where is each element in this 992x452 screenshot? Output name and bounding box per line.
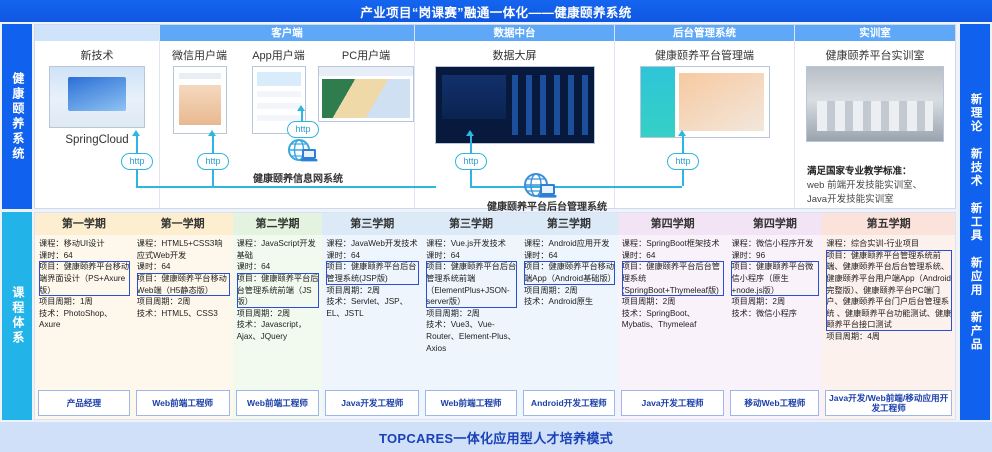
curriculum-course: 课程：移动UI设计 — [39, 238, 130, 250]
curriculum-hours: 课时：96 — [731, 250, 819, 262]
curriculum-column: 第一学期课程：HTML5+CSS3响应式Web开发课时：64项目：健康颐养平台移… — [133, 213, 233, 419]
curriculum-term-header: 第二学期 — [233, 213, 323, 235]
job-role-badge[interactable]: Web前端工程师 — [425, 390, 517, 416]
curriculum-column: 第三学期课程：Android应用开发课时：64项目：健康颐养平台移动端App（A… — [520, 213, 618, 419]
curriculum-project: 项目：健康颐养平台后台管理系统前端（JS版） — [237, 273, 320, 308]
info-net-caption: 健康颐养信息网系统 — [253, 170, 343, 185]
curriculum-term-header: 第三学期 — [520, 213, 618, 235]
job-role-badge[interactable]: Android开发工程师 — [523, 390, 615, 416]
curriculum-column: 第五学期课程：综合实训-行业项目项目：健康颐养平台管理系统前端、健康颐养平台后台… — [822, 213, 955, 419]
curriculum-period: 项目周期：1周 — [39, 296, 130, 308]
curriculum-column: 第一学期课程：移动UI设计课时：64项目：健康颐养平台移动端界面设计（PS+Ax… — [35, 213, 133, 419]
job-role-badge[interactable]: 产品经理 — [38, 390, 130, 416]
arrow-data — [466, 130, 474, 136]
curriculum-period: 项目周期：2周 — [426, 308, 517, 320]
arrow-app — [208, 130, 216, 136]
http-pill-admin: http — [667, 153, 699, 170]
curriculum-hours: 课时：64 — [326, 250, 419, 262]
http-pill-wechat: http — [121, 153, 153, 170]
curriculum-course: 课程：Android应用开发 — [524, 238, 615, 250]
http-pill-app: http — [197, 153, 229, 170]
curriculum-hours: 课时：64 — [39, 250, 130, 262]
curriculum-tech: 技术：微信小程序 — [731, 308, 819, 320]
bus-line-right — [470, 186, 682, 188]
job-role-badge[interactable]: Java开发工程师 — [325, 390, 419, 416]
curriculum-hours: 课时：64 — [137, 261, 230, 273]
sidebar-curriculum-label: 课程体系 — [2, 212, 32, 420]
job-role-badge[interactable]: Web前端工程师 — [136, 390, 230, 416]
curriculum-period: 项目周期：4周 — [826, 331, 952, 343]
riser-app-top — [212, 135, 214, 155]
curriculum-tech: 技术：Javascript，Ajax、JQuery — [237, 319, 320, 342]
arrow-pc — [297, 105, 305, 111]
job-role-badge[interactable]: Java开发工程师 — [621, 390, 725, 416]
curriculum-detail: 课程：JavaScript开发基础课时：64项目：健康颐养平台后台管理系统前端（… — [233, 235, 323, 387]
curriculum-column: 第二学期课程：JavaScript开发基础课时：64项目：健康颐养平台后台管理系… — [233, 213, 323, 419]
curriculum-column: 第三学期课程：Vue.js开发技术课时：64项目：健康颐养平台后台管理系统前端（… — [422, 213, 520, 419]
curriculum-detail: 课程：JavaWeb开发技术课时：64项目：健康颐养平台后台管理系统(JSP版)… — [322, 235, 422, 387]
footer-title: TOPCARES一体化应用型人才培养模式 — [379, 428, 613, 447]
curriculum-tech: 技术：HTML5、CSS3 — [137, 308, 230, 320]
job-role-badge[interactable]: Java开发/Web前端/移动应用开发工程师 — [825, 390, 952, 416]
bus-line-left — [136, 186, 436, 188]
job-role-badge[interactable]: Web前端工程师 — [236, 390, 320, 416]
arrow-wechat — [132, 130, 140, 136]
curriculum-course: 课程：HTML5+CSS3响应式Web开发 — [137, 238, 230, 261]
curriculum-project: 项目：健康颐养平台管理系统前端、健康颐养平台后台管理系统、健康颐养平台用户端Ap… — [826, 250, 952, 331]
http-pill-data: http — [455, 153, 487, 170]
curriculum-tech: 技术：PhotoShop、Axure — [39, 308, 130, 331]
curriculum-period: 项目周期：2周 — [137, 296, 230, 308]
curriculum-detail: 课程：Vue.js开发技术课时：64项目：健康颐养平台后台管理系统前端（Elem… — [422, 235, 520, 387]
job-role-badge[interactable]: 移动Web工程师 — [730, 390, 819, 416]
curriculum-term-header: 第三学期 — [422, 213, 520, 235]
riser-admin-top — [682, 135, 684, 155]
poster-root: 产业项目“岗课赛”融通一体化——健康颐养系统 健康颐养系统 课程体系 新理论 新… — [0, 0, 992, 452]
curriculum-hours: 课时：64 — [426, 250, 517, 262]
footer-bar: TOPCARES一体化应用型人才培养模式 — [0, 422, 992, 452]
curriculum-term-header: 第四学期 — [618, 213, 728, 235]
curriculum-course: 课程：Vue.js开发技术 — [426, 238, 517, 250]
curriculum-course: 课程：SpringBoot框架技术 — [622, 238, 725, 250]
curriculum-term-header: 第四学期 — [727, 213, 822, 235]
curriculum-project: 项目：健康颐养平台移动端界面设计（PS+Axure版） — [39, 261, 130, 296]
curriculum-hours: 课时：64 — [622, 250, 725, 262]
curriculum-detail: 课程：移动UI设计课时：64项目：健康颐养平台移动端界面设计（PS+Axure版… — [35, 235, 133, 387]
curriculum-period: 项目周期：2周 — [731, 296, 819, 308]
riser-wechat-top — [136, 135, 138, 155]
curriculum-term-header: 第一学期 — [35, 213, 133, 235]
curriculum-tech: 技术：Vue3、Vue-Router、Element-Plus、Axios — [426, 319, 517, 354]
curriculum-project: 项目：健康颐养平台后台管理系统(JSP版) — [326, 261, 419, 284]
backend-net-caption: 健康颐养平台后台管理系统 — [487, 198, 607, 213]
curriculum-detail: 课程：Android应用开发课时：64项目：健康颐养平台移动端App（Andro… — [520, 235, 618, 387]
curriculum-tech: 技术：Servlet、JSP、EL、JSTL — [326, 296, 419, 319]
sidebar-curriculum-text: 课程体系 — [10, 286, 24, 346]
curriculum-term-header: 第五学期 — [822, 213, 955, 235]
curriculum-course: 课程：JavaScript开发基础 — [237, 238, 320, 261]
curriculum-project: 项目：健康颐养平台移动端App（Android基础版） — [524, 261, 615, 284]
curriculum-term-header: 第三学期 — [322, 213, 422, 235]
riser-data-top — [470, 135, 472, 155]
curriculum-term-header: 第一学期 — [133, 213, 233, 235]
curriculum-table: 第一学期课程：移动UI设计课时：64项目：健康颐养平台移动端界面设计（PS+Ax… — [34, 212, 956, 420]
curriculum-detail: 课程：HTML5+CSS3响应式Web开发课时：64项目：健康颐养平台移动Web… — [133, 235, 233, 387]
curriculum-column: 第四学期课程：微信小程序开发课时：96项目：健康颐养平台微信小程序（原生+nod… — [727, 213, 822, 419]
curriculum-hours: 课时：64 — [237, 261, 320, 273]
curriculum-period: 项目周期：2周 — [237, 308, 320, 320]
curriculum-course: 课程：JavaWeb开发技术 — [326, 238, 419, 250]
curriculum-project: 项目：健康颐养平台微信小程序（原生+node.js版） — [731, 261, 819, 296]
curriculum-project: 项目：健康颐养平台后台管理系统(SpringBoot+Thymeleaf版) — [622, 261, 725, 296]
curriculum-detail: 课程：SpringBoot框架技术课时：64项目：健康颐养平台后台管理系统(Sp… — [618, 235, 728, 387]
curriculum-period: 项目周期：2周 — [524, 285, 615, 297]
curriculum-detail: 课程：综合实训-行业项目项目：健康颐养平台管理系统前端、健康颐养平台后台管理系统… — [822, 235, 955, 387]
info-net-globe-icon — [288, 138, 318, 164]
curriculum-hours: 课时：64 — [524, 250, 615, 262]
curriculum-tech: 技术：Android原生 — [524, 296, 615, 308]
curriculum-column: 第四学期课程：SpringBoot框架技术课时：64项目：健康颐养平台后台管理系… — [618, 213, 728, 419]
connector-layer: http http http 健康颐养信息网系统 http — [0, 0, 992, 212]
http-pill-pc: http — [287, 121, 319, 138]
curriculum-tech: 技术：SpringBoot、Mybatis、Thymeleaf — [622, 308, 725, 331]
riser-pc-top — [301, 110, 303, 121]
curriculum-course: 课程：综合实训-行业项目 — [826, 238, 952, 250]
curriculum-period: 项目周期：2周 — [622, 296, 725, 308]
curriculum-project: 项目：健康颐养平台后台管理系统前端（ElementPlus+JSON-serve… — [426, 261, 517, 308]
curriculum-period: 项目周期：2周 — [326, 285, 419, 297]
curriculum-detail: 课程：微信小程序开发课时：96项目：健康颐养平台微信小程序（原生+node.js… — [727, 235, 822, 387]
curriculum-course: 课程：微信小程序开发 — [731, 238, 819, 250]
arrow-admin — [678, 130, 686, 136]
curriculum-project: 项目：健康颐养平台移动Web端（H5静态版） — [137, 273, 230, 296]
curriculum-column: 第三学期课程：JavaWeb开发技术课时：64项目：健康颐养平台后台管理系统(J… — [322, 213, 422, 419]
